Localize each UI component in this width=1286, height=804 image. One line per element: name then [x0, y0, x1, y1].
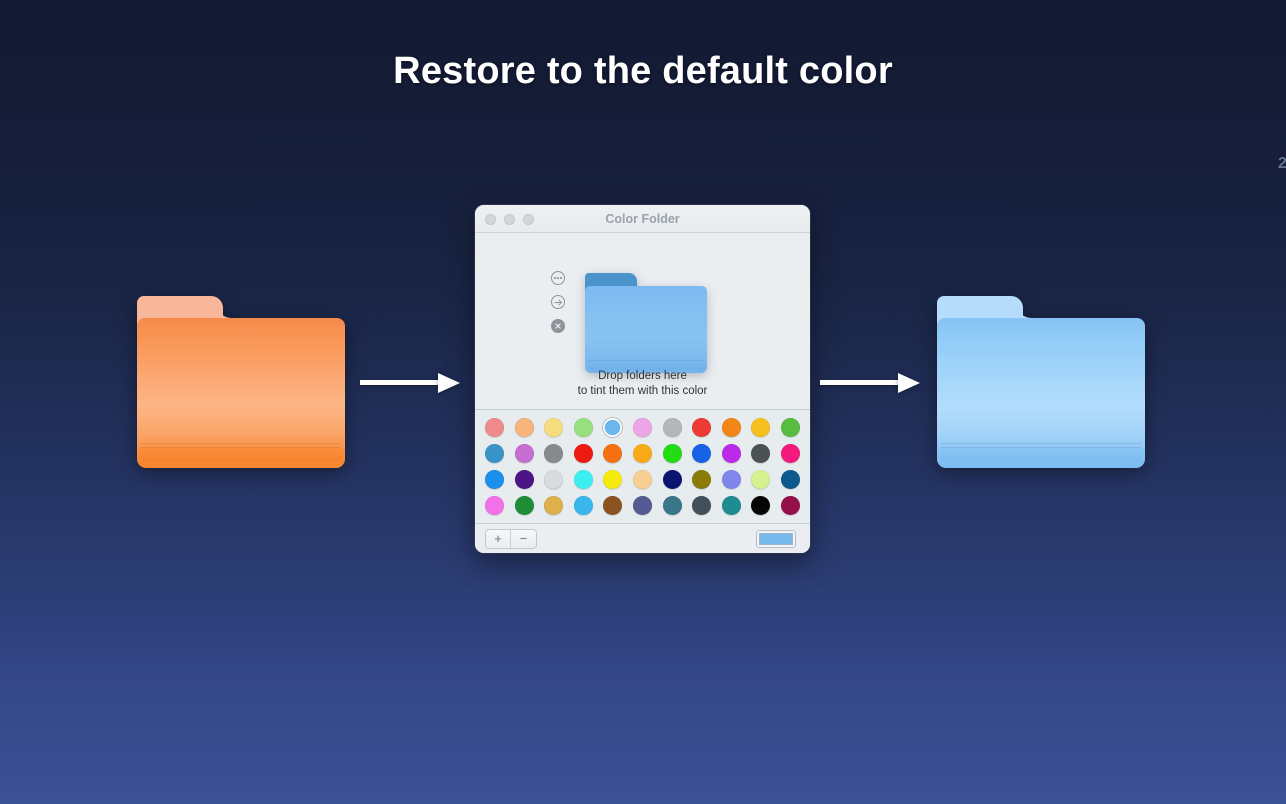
color-swatch[interactable] [722, 470, 741, 489]
folder-lip-line [941, 447, 1141, 448]
source-folder-orange [137, 296, 345, 468]
x-glyph [554, 322, 562, 330]
folder-lip-line [588, 360, 704, 361]
color-swatch[interactable] [574, 470, 593, 489]
color-swatch[interactable] [722, 496, 741, 515]
folder-lip-line [141, 443, 341, 444]
page-title: Restore to the default color [0, 50, 1286, 93]
dots-glyph [554, 277, 562, 279]
color-swatch[interactable] [544, 496, 563, 515]
swatch-row [485, 470, 800, 489]
window-titlebar: Color Folder [475, 205, 810, 233]
color-swatch[interactable] [574, 496, 593, 515]
color-folder-window[interactable]: Color Folder [475, 205, 810, 553]
color-swatch[interactable] [485, 496, 504, 515]
swatch-row [485, 444, 800, 463]
color-swatch[interactable] [485, 470, 504, 489]
color-swatch[interactable] [663, 444, 682, 463]
color-swatch[interactable] [544, 444, 563, 463]
color-swatch[interactable] [663, 496, 682, 515]
color-swatch[interactable] [544, 470, 563, 489]
color-swatch[interactable] [781, 496, 800, 515]
color-swatch[interactable] [781, 418, 800, 437]
folder-lip [139, 448, 343, 462]
color-swatch[interactable] [574, 418, 593, 437]
color-swatch[interactable] [663, 418, 682, 437]
folder-body [585, 286, 707, 373]
add-color-button[interactable]: + [486, 530, 511, 548]
folder-lip-line [941, 443, 1141, 444]
arrow-right-icon-1 [360, 372, 460, 394]
color-swatch[interactable] [781, 470, 800, 489]
arrow-shaft [820, 380, 898, 385]
color-swatch[interactable] [485, 444, 504, 463]
more-options-icon[interactable] [551, 271, 565, 285]
color-swatch[interactable] [603, 496, 622, 515]
folder-body [137, 318, 345, 468]
color-swatch[interactable] [751, 470, 770, 489]
color-swatch[interactable] [633, 496, 652, 515]
color-swatch[interactable] [751, 418, 770, 437]
color-swatch[interactable] [515, 444, 534, 463]
color-swatch[interactable] [633, 470, 652, 489]
result-folder-blue [937, 296, 1145, 468]
color-swatch-grid[interactable] [475, 409, 810, 523]
remove-color-button[interactable]: − [511, 530, 536, 548]
drop-line-1: Drop folders here [475, 369, 810, 384]
arrow-right-icon-2 [820, 372, 920, 394]
window-title: Color Folder [475, 212, 810, 226]
color-well[interactable] [756, 530, 796, 548]
color-swatch[interactable] [633, 444, 652, 463]
folder-body [937, 318, 1145, 468]
color-well-swatch [759, 533, 793, 545]
color-swatch[interactable] [663, 470, 682, 489]
drop-instructions: Drop folders here to tint them with this… [475, 369, 810, 399]
arrow-shaft [360, 380, 438, 385]
color-swatch[interactable] [515, 496, 534, 515]
edge-artifact: 2 [1278, 155, 1286, 173]
color-swatch[interactable] [692, 444, 711, 463]
color-swatch[interactable] [574, 444, 593, 463]
side-icon-group [551, 271, 565, 333]
folder-lip [939, 448, 1143, 462]
preview-area[interactable]: Drop folders here to tint them with this… [475, 233, 810, 409]
color-swatch[interactable] [603, 470, 622, 489]
arrow-right-circle-icon[interactable] [551, 295, 565, 309]
color-swatch[interactable] [544, 418, 563, 437]
swatch-row [485, 418, 800, 437]
color-swatch[interactable] [722, 444, 741, 463]
color-swatch[interactable] [603, 444, 622, 463]
color-swatch[interactable] [692, 496, 711, 515]
swatch-row [485, 496, 800, 515]
folder-lip-line [141, 447, 341, 448]
preview-folder-icon[interactable] [585, 273, 707, 373]
drop-line-2: to tint them with this color [475, 384, 810, 399]
add-remove-segmented-control[interactable]: + − [485, 529, 537, 549]
color-swatch[interactable] [515, 418, 534, 437]
color-swatch[interactable] [515, 470, 534, 489]
color-swatch[interactable] [692, 470, 711, 489]
color-swatch[interactable] [781, 444, 800, 463]
color-swatch[interactable] [692, 418, 711, 437]
color-swatch[interactable] [722, 418, 741, 437]
close-circle-icon[interactable] [551, 319, 565, 333]
color-swatch[interactable] [751, 496, 770, 515]
arrow-head [898, 373, 920, 393]
arrow-glyph [554, 298, 563, 307]
arrow-head [438, 373, 460, 393]
color-swatch[interactable] [485, 418, 504, 437]
window-footer: + − [475, 523, 810, 553]
color-swatch[interactable] [751, 444, 770, 463]
color-swatch[interactable] [633, 418, 652, 437]
color-swatch[interactable] [605, 420, 621, 436]
